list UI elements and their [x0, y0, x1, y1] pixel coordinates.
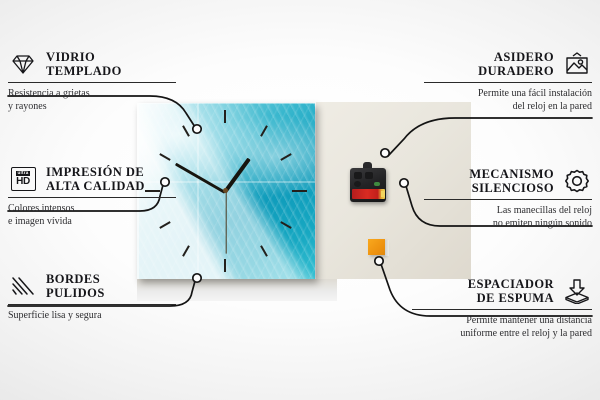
feature-description: Resistencia a grietas y rayones	[8, 88, 176, 113]
feature-description: Las manecillas del reloj no emiten ningú…	[424, 205, 592, 230]
feature-title: VIDRIO TEMPLADO	[46, 50, 122, 78]
gear-icon	[562, 167, 592, 195]
feature-header: MECANISMO SILENCIOSO	[424, 167, 592, 195]
feature-title: IMPRESIÓN DE ALTA CALIDAD	[46, 165, 145, 193]
divider	[8, 304, 176, 305]
mechanism-button	[354, 172, 362, 179]
foam-spacer-icon	[562, 277, 592, 305]
mechanism-label	[374, 182, 380, 186]
feature-title: ASIDERO DURADERO	[478, 50, 554, 78]
hd-label: HD	[16, 177, 30, 187]
mechanism-button	[365, 172, 373, 179]
feature-description: Superficie lisa y segura	[8, 310, 176, 323]
feature-description: Colores intensos e imagen vívida	[8, 203, 176, 228]
feature-vidrio-templado: VIDRIO TEMPLADO Resistencia a grietas y …	[8, 50, 176, 113]
clock-second-hand	[225, 192, 226, 254]
clock-tick	[292, 190, 307, 192]
battery-terminal	[381, 191, 385, 197]
divider	[424, 82, 592, 83]
divider	[424, 199, 592, 200]
divider	[8, 197, 176, 198]
polished-edges-icon	[8, 272, 38, 300]
feature-asidero-duradero: ASIDERO DURADERO Permite una fácil insta…	[424, 50, 592, 113]
feature-title: MECANISMO SILENCIOSO	[469, 167, 554, 195]
feature-title: BORDES PULIDOS	[46, 272, 105, 300]
feature-impresion-alta-calidad: ultra HD IMPRESIÓN DE ALTA CALIDAD Color…	[8, 165, 176, 228]
feature-header: ultra HD IMPRESIÓN DE ALTA CALIDAD	[8, 165, 176, 193]
ultra-hd-icon: ultra HD	[8, 165, 38, 193]
feature-header: ESPACIADOR DE ESPUMA	[412, 277, 592, 305]
infographic-stage: VIDRIO TEMPLADO Resistencia a grietas y …	[0, 0, 600, 400]
feature-espaciador-espuma: ESPACIADOR DE ESPUMA Permite mantener un…	[412, 277, 592, 340]
feature-header: BORDES PULIDOS	[8, 272, 176, 300]
feature-title: ESPACIADOR DE ESPUMA	[468, 277, 554, 305]
feature-header: VIDRIO TEMPLADO	[8, 50, 176, 78]
diamond-icon	[8, 50, 38, 78]
feature-bordes-pulidos: BORDES PULIDOS Superficie lisa y segura	[8, 272, 176, 323]
feature-description: Permite una fácil instalación del reloj …	[424, 88, 592, 113]
mechanism-dial	[354, 181, 361, 187]
clock-center-hub	[223, 188, 228, 193]
foam-spacer-side	[385, 240, 389, 256]
feature-description: Permite mantener una distancia uniforme …	[412, 315, 592, 340]
divider	[8, 82, 176, 83]
clock-tick	[224, 110, 226, 123]
feature-mecanismo-silencioso: MECANISMO SILENCIOSO Las manecillas del …	[424, 167, 592, 230]
divider	[412, 309, 592, 310]
foam-spacer-block	[368, 239, 385, 255]
picture-hanger-icon	[562, 50, 592, 78]
feature-header: ASIDERO DURADERO	[424, 50, 592, 78]
clock-tick	[224, 259, 226, 272]
